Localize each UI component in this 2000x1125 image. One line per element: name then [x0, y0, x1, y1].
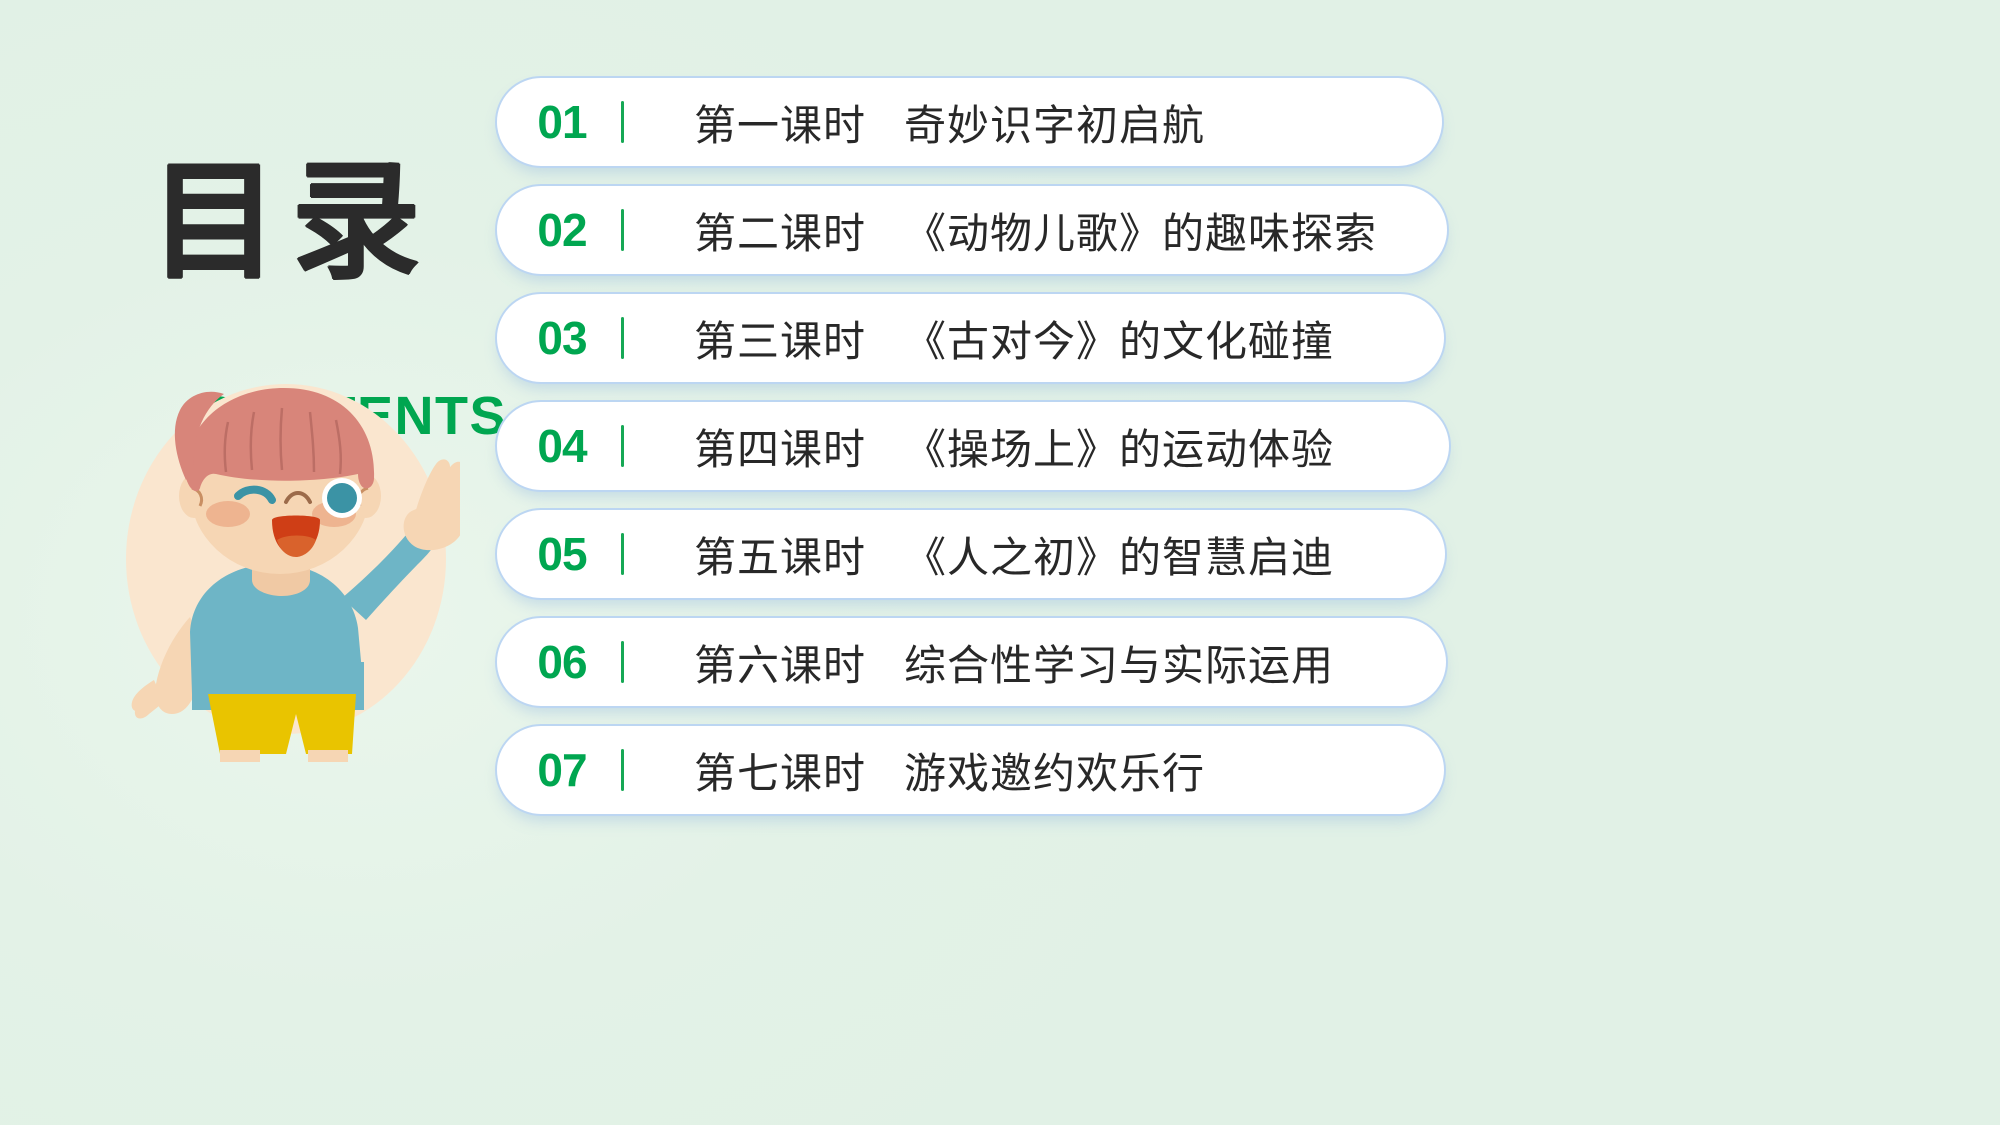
item-text-01: 第一课时奇妙识字初启航 [694, 92, 1205, 153]
item-number-02: 02 [497, 203, 627, 257]
contents-row-04[interactable]: 04 第四课时《操场上》的运动体验 [495, 400, 1451, 492]
item-text-07: 第七课时游戏邀约欢乐行 [694, 740, 1205, 801]
item-divider-04 [621, 425, 624, 467]
item-number-04: 04 [497, 419, 627, 473]
item-lesson-04: 第四课时 [694, 425, 866, 474]
item-lesson-02: 第二课时 [694, 209, 866, 258]
boy-character-illustration [120, 362, 460, 762]
item-text-03: 第三课时《古对今》的文化碰撞 [694, 308, 1334, 369]
item-number-03: 03 [497, 311, 627, 365]
contents-row-07[interactable]: 07 第七课时游戏邀约欢乐行 [495, 724, 1446, 816]
item-divider-05 [621, 533, 624, 575]
shorts-icon [208, 694, 356, 754]
item-topic-04: 《操场上》的运动体验 [904, 425, 1334, 474]
item-divider-02 [621, 209, 624, 251]
character-svg [120, 362, 460, 762]
item-number-05: 05 [497, 527, 627, 581]
waving-hand-icon [404, 459, 460, 550]
item-lesson-07: 第七课时 [694, 749, 866, 798]
contents-row-02[interactable]: 02 第二课时《动物儿歌》的趣味探索 [495, 184, 1449, 276]
item-divider-03 [621, 317, 624, 359]
contents-row-03[interactable]: 03 第三课时《古对今》的文化碰撞 [495, 292, 1446, 384]
contents-row-01[interactable]: 01 第一课时奇妙识字初启航 [495, 76, 1444, 168]
item-topic-05: 《人之初》的智慧启迪 [904, 533, 1334, 582]
item-topic-07: 游戏邀约欢乐行 [904, 749, 1205, 798]
left-panel: 目录 CONTENTS [0, 0, 500, 1125]
item-topic-02: 《动物儿歌》的趣味探索 [904, 209, 1377, 258]
item-divider-06 [621, 641, 624, 683]
item-text-05: 第五课时《人之初》的智慧启迪 [694, 524, 1334, 585]
item-lesson-01: 第一课时 [694, 101, 866, 150]
contents-row-06[interactable]: 06 第六课时综合性学习与实际运用 [495, 616, 1448, 708]
item-topic-06: 综合性学习与实际运用 [904, 641, 1334, 690]
item-text-04: 第四课时《操场上》的运动体验 [694, 416, 1334, 477]
item-lesson-06: 第六课时 [694, 641, 866, 690]
item-number-07: 07 [497, 743, 627, 797]
item-topic-01: 奇妙识字初启航 [904, 101, 1205, 150]
item-lesson-03: 第三课时 [694, 317, 866, 366]
item-lesson-05: 第五课时 [694, 533, 866, 582]
item-topic-03: 《古对今》的文化碰撞 [904, 317, 1334, 366]
item-number-06: 06 [497, 635, 627, 689]
slide-canvas: 目录 CONTENTS [0, 0, 2000, 1125]
item-divider-07 [621, 749, 624, 791]
contents-list: 01 第一课时奇妙识字初启航 02 第二课时《动物儿歌》的趣味探索 03 第三课… [495, 76, 1495, 832]
item-number-01: 01 [497, 95, 627, 149]
page-title-chinese: 目录 [150, 158, 434, 286]
item-divider-01 [621, 101, 624, 143]
item-text-02: 第二课时《动物儿歌》的趣味探索 [694, 200, 1377, 261]
item-text-06: 第六课时综合性学习与实际运用 [694, 632, 1334, 693]
contents-row-05[interactable]: 05 第五课时《人之初》的智慧启迪 [495, 508, 1447, 600]
